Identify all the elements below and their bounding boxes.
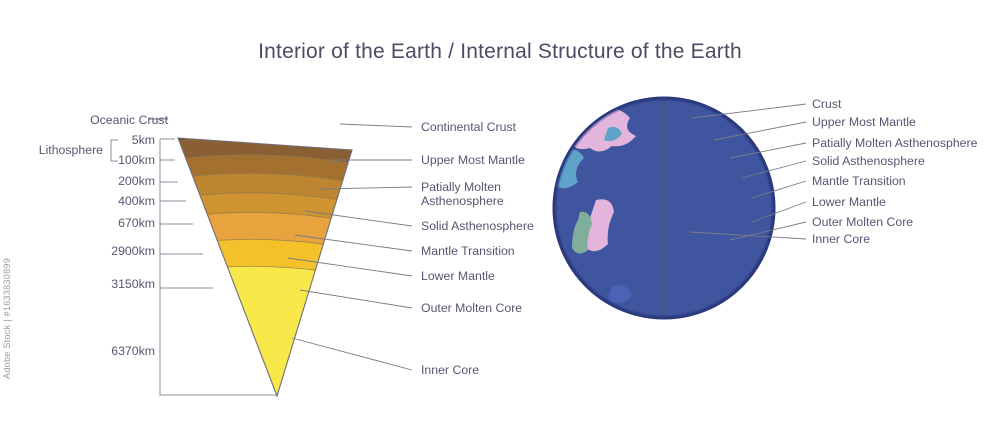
stock-watermark: Adobe Stock | #1633830899	[2, 258, 12, 379]
depth-tick-3150km: 3150km	[111, 277, 155, 291]
label-mantle-transition: Mantle Transition	[421, 244, 515, 258]
label-upper-most-mantle: Upper Most Mantle	[421, 153, 525, 167]
depth-tick-5km: 5km	[132, 133, 155, 147]
label-solid-asthenosphere: Solid Asthenosphere	[421, 219, 534, 233]
depth-tick-6370km: 6370km	[111, 344, 155, 358]
label-lower-mantle: Lower Mantle	[421, 269, 495, 283]
diagram-canvas: Interior of the Earth / Internal Structu…	[0, 0, 1000, 432]
depth-tick-100km: 100km	[118, 153, 155, 167]
sphere-label-crust: Crust	[812, 97, 841, 111]
label-asthenosphere: Asthenosphere	[421, 194, 504, 208]
sphere-label-mantle-transition: Mantle Transition	[812, 174, 906, 188]
depth-tick-200km: 200km	[118, 174, 155, 188]
sphere-label-patially-molten-asthenosphere: Patially Molten Asthenosphere	[812, 136, 977, 150]
label-outer-molten-core: Outer Molten Core	[421, 301, 522, 315]
depth-tick-670km: 670km	[118, 216, 155, 230]
depth-tick-400km: 400km	[118, 194, 155, 208]
label-continental-crust: Continental Crust	[421, 120, 516, 134]
depth-tick-2900km: 2900km	[111, 244, 155, 258]
earth-sphere	[551, 98, 774, 318]
sphere-label-lower-mantle: Lower Mantle	[812, 195, 886, 209]
label-inner-core: Inner Core	[421, 363, 479, 377]
label-oceanic-crust: Oceanic Crust	[90, 113, 168, 127]
sphere-label-inner-core: Inner Core	[812, 232, 870, 246]
sphere-label-solid-asthenosphere: Solid Asthenosphere	[812, 154, 925, 168]
sphere-label-upper-most-mantle: Upper Most Mantle	[812, 115, 916, 129]
label-patially-molten: Patially Molten	[421, 180, 501, 194]
label-lithosphere: Lithosphere	[39, 143, 103, 157]
sphere-label-outer-molten-core: Outer Molten Core	[812, 215, 913, 229]
